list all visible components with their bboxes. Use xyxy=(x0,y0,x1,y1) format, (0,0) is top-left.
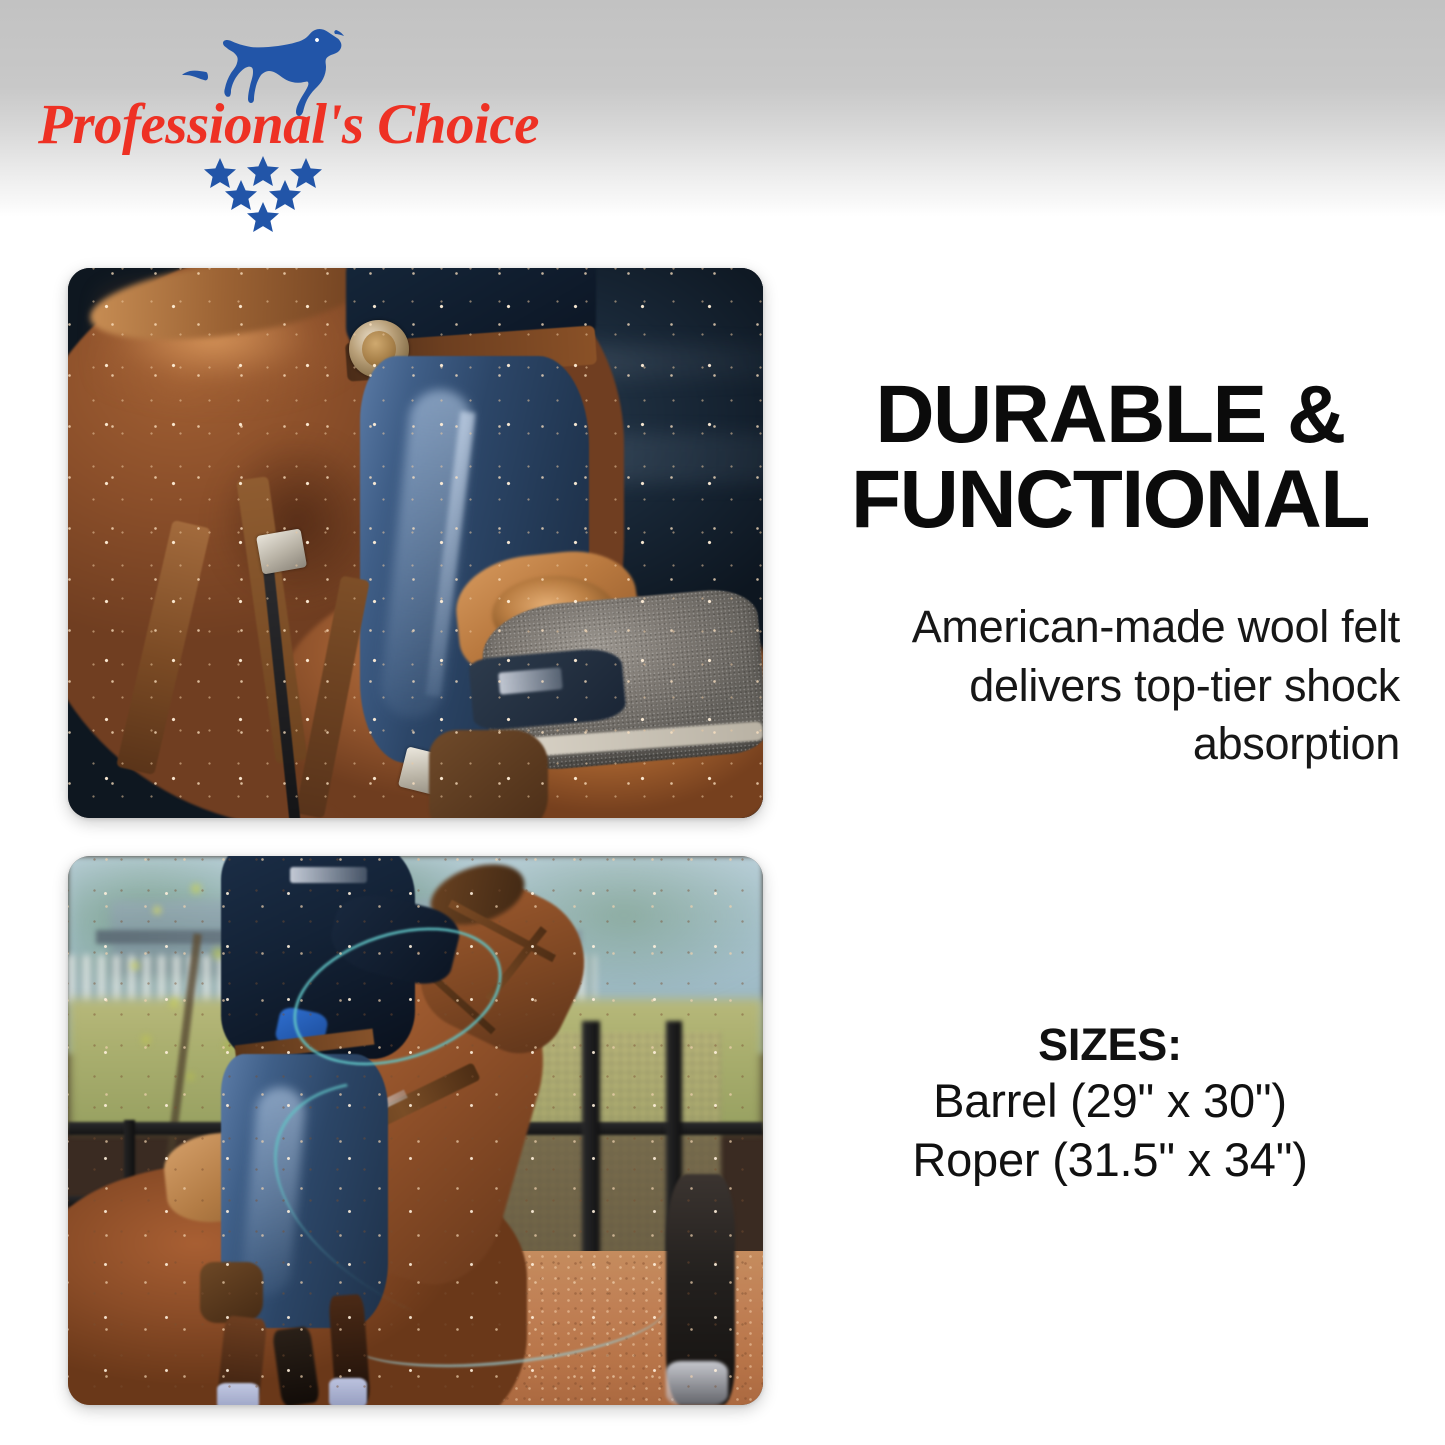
photo-scene-bottom xyxy=(68,856,763,1405)
copy-column: DURABLE & FUNCTIONAL American-made wool … xyxy=(800,0,1420,1445)
brand-wordmark: Professional's Choice xyxy=(38,96,438,153)
product-feature-banner: Professional's Choice xyxy=(0,0,1445,1445)
subcopy-line-1: American-made wool felt xyxy=(800,598,1400,657)
photo-rider-saddle-pad xyxy=(68,268,763,818)
subcopy-line-2: delivers top-tier shock xyxy=(800,657,1400,716)
sizes-block: SIZES: Barrel (29" x 30") Roper (31.5" x… xyxy=(800,1018,1420,1190)
six-stars-icon xyxy=(198,154,328,234)
subheadline: American-made wool felt delivers top-tie… xyxy=(800,598,1400,774)
headline-line-2: FUNCTIONAL xyxy=(800,457,1420,542)
subcopy-line-3: absorption xyxy=(800,715,1400,774)
sizes-title: SIZES: xyxy=(800,1018,1420,1071)
size-option-roper: Roper (31.5" x 34") xyxy=(800,1130,1420,1189)
headline-line-1: DURABLE & xyxy=(800,372,1420,457)
photo-scene-top xyxy=(68,268,763,818)
brand-logo: Professional's Choice xyxy=(38,18,438,228)
size-option-barrel: Barrel (29" x 30") xyxy=(800,1071,1420,1130)
headline: DURABLE & FUNCTIONAL xyxy=(800,372,1420,543)
photo-roper-arena xyxy=(68,856,763,1405)
